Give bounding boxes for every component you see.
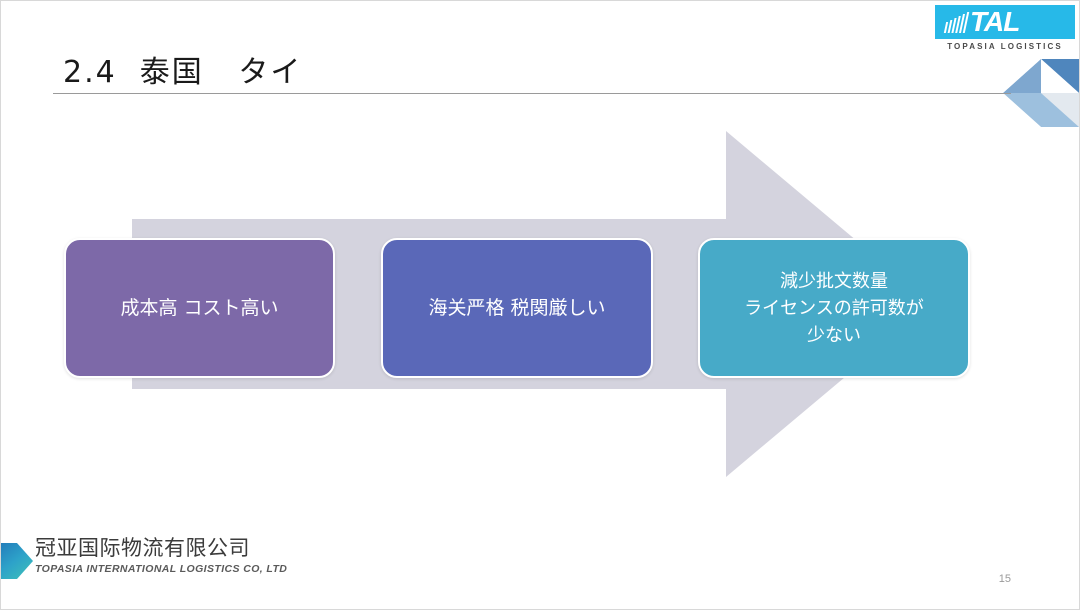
footer-company-en: TOPASIA INTERNATIONAL LOGISTICS CO, LTD	[35, 563, 287, 575]
process-box-cost-label: 成本高 コスト高い	[120, 294, 278, 323]
page-number: 15	[999, 573, 1011, 585]
process-box-license-label: 減少批文数量 ライセンスの許可数が 少ない	[744, 268, 924, 349]
footer: 冠亚国际物流有限公司 TOPASIA INTERNATIONAL LOGISTI…	[1, 535, 421, 591]
company-mark-icon	[0, 539, 33, 583]
process-box-customs-label: 海关严格 税関厳しい	[428, 294, 605, 323]
process-boxes: 成本高 コスト高い 海关严格 税関厳しい 減少批文数量 ライセンスの許可数が 少…	[1, 1, 1080, 610]
footer-company-cn: 冠亚国际物流有限公司	[35, 537, 287, 560]
process-box-license[interactable]: 減少批文数量 ライセンスの許可数が 少ない	[698, 238, 970, 378]
footer-company-block: 冠亚国际物流有限公司 TOPASIA INTERNATIONAL LOGISTI…	[35, 537, 287, 575]
process-box-cost[interactable]: 成本高 コスト高い	[64, 238, 335, 378]
slide-canvas: TAL TOPASIA LOGISTICS	[0, 0, 1080, 610]
process-box-customs[interactable]: 海关严格 税関厳しい	[381, 238, 653, 378]
